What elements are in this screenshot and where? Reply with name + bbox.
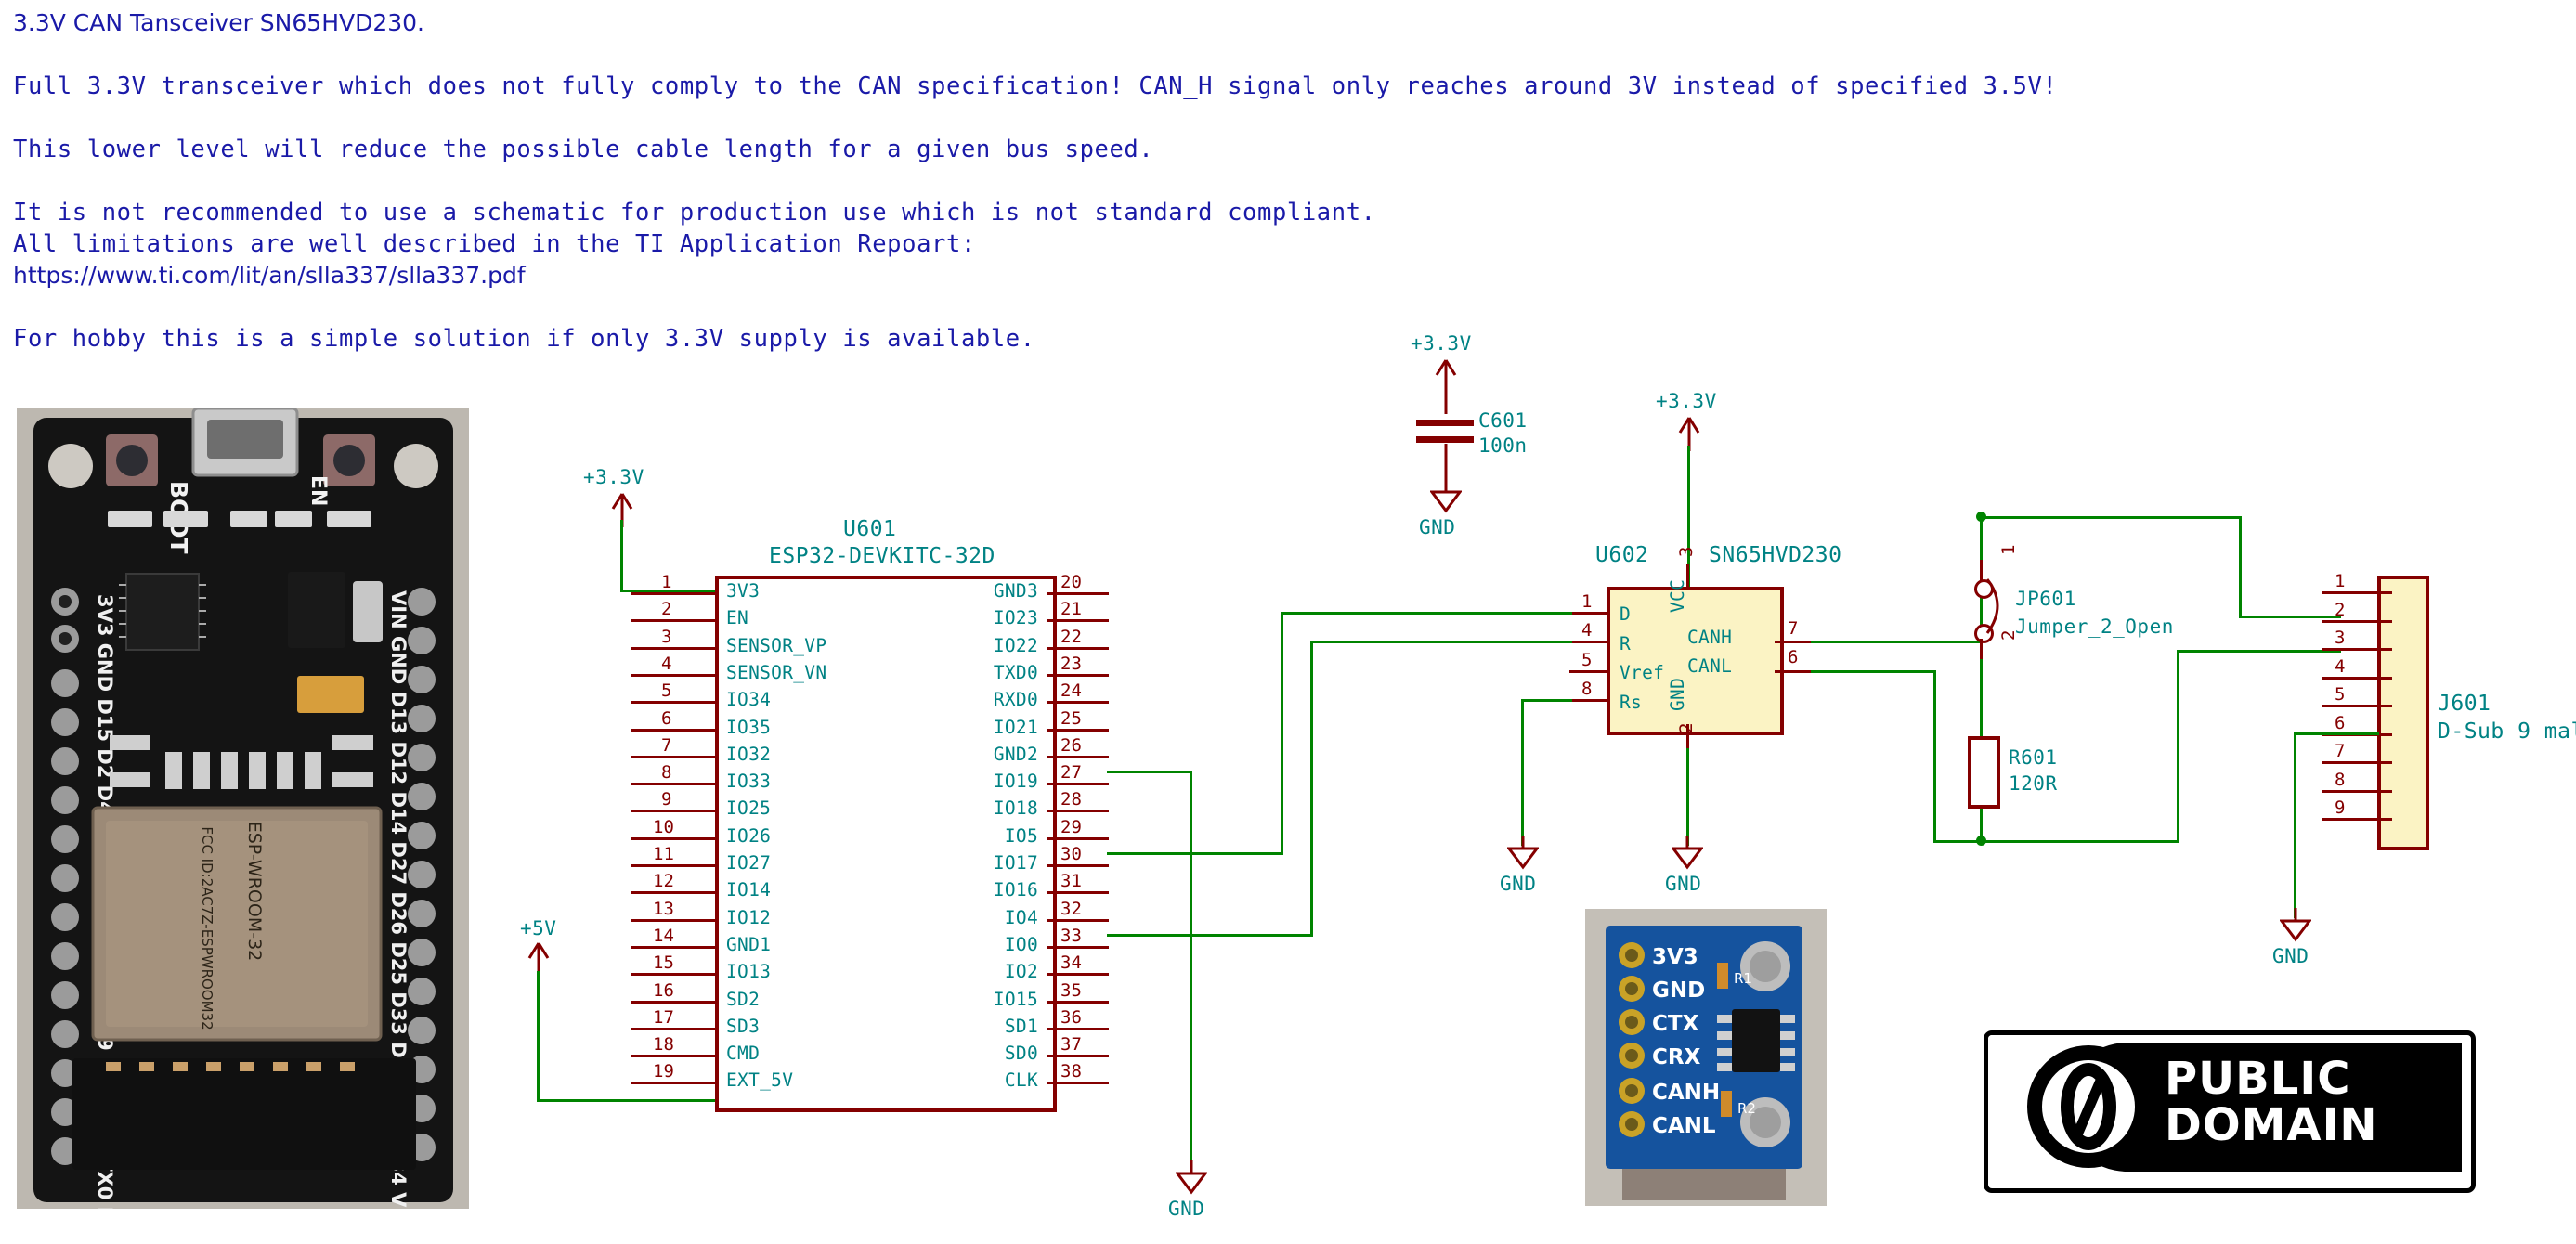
u601-left-pin-number: 7 (661, 735, 671, 756)
u601-right-pin-number: 22 (1060, 627, 1082, 647)
u601-left-pin-name: SENSOR_VP (726, 635, 826, 656)
svg-text:CANL: CANL (1652, 1114, 1716, 1138)
wire-j601-pin5-gnd-v (2294, 732, 2296, 918)
u602-pin-vref-num: 5 (1581, 650, 1592, 670)
u601-right-pin-number: 28 (1060, 789, 1082, 810)
power-label-5v: +5V (520, 917, 556, 939)
u601-right-pin-stub (1047, 973, 1109, 976)
u601-left-pin-name: IO35 (726, 717, 771, 738)
u601-right-pin-name: IO2 (1005, 961, 1038, 982)
jp601-pin1-num: 1 (1998, 545, 2019, 555)
u602-pin-rs-name: Rs (1620, 692, 1642, 713)
u602-pin-d-name: D (1620, 603, 1631, 625)
svg-text:ESP-WROOM-32: ESP-WROOM-32 (244, 822, 265, 962)
u601-left-pin-name: IO33 (726, 771, 771, 792)
u602-pin-canh-num: 7 (1788, 618, 1798, 639)
svg-text:CTX: CTX (1652, 1012, 1699, 1036)
u601-right-pin-stub (1047, 919, 1109, 922)
wire-canh-dsub-entry (2239, 616, 2341, 618)
u601-right-pin-name: IO22 (994, 635, 1038, 656)
u602-pin-canh-name: CANH (1687, 627, 1732, 648)
u601-left-pin-stub (631, 1055, 717, 1057)
u602-gnd-label: GND (1665, 873, 1701, 895)
svg-text:3V3: 3V3 (1652, 945, 1698, 969)
u601-right-pin-number: 34 (1060, 952, 1082, 973)
u601-right-pin-number: 29 (1060, 817, 1082, 837)
u602-pin-r-name: R (1620, 633, 1631, 654)
u601-right-pin-name: IO23 (994, 607, 1038, 628)
u601-left-pin-number: 18 (653, 1034, 674, 1055)
u601-left-pin-number: 15 (653, 952, 674, 973)
u602-pin-canl-num: 6 (1788, 647, 1798, 667)
wire-5v-horizontal (537, 1099, 718, 1102)
u601-right-pin-name: IO16 (994, 879, 1038, 901)
wire-canl-seg2 (1933, 670, 1936, 842)
u601-right-pin-name: SD1 (1005, 1016, 1038, 1037)
u601-left-pin-name: IO13 (726, 961, 771, 982)
u601-left-pin-number: 3 (661, 627, 671, 647)
wire-canh-to-dsub (2239, 516, 2242, 618)
note-line-6: For hobby this is a simple solution if o… (13, 323, 2335, 355)
c601-plate-top (1416, 420, 1474, 426)
j601-pin-stub (2322, 818, 2392, 821)
j601-pin-number: 7 (2335, 741, 2345, 761)
u601-right-pin-number: 32 (1060, 899, 1082, 919)
svg-text:R1: R1 (1734, 970, 1752, 987)
u601-left-pin-stub (631, 1028, 717, 1030)
u601-left-pin-number: 11 (653, 844, 674, 864)
power-arrow-3v3-cap (1430, 358, 1462, 416)
u601-left-pin-stub (631, 810, 717, 812)
u601-left-pin-number: 16 (653, 980, 674, 1001)
u601-right-pin-name: RXD0 (994, 689, 1038, 710)
u601-right-pin-number: 20 (1060, 572, 1082, 592)
u601-right-pin-number: 31 (1060, 871, 1082, 891)
jp601-arc (1985, 576, 2013, 637)
wire-5v-vertical (537, 971, 540, 1102)
u601-left-pin-name: IO14 (726, 879, 771, 901)
u601-right-pin-stub (1047, 592, 1109, 595)
u601-left-pin-name: IO34 (726, 689, 771, 710)
j601-pin-stub (2322, 648, 2392, 651)
note-url[interactable]: https://www.ti.com/lit/an/slla337/slla33… (13, 260, 2335, 292)
junction-top-canh (1976, 512, 1986, 522)
u601-left-pin-stub (631, 973, 717, 976)
c601-gnd-label: GND (1419, 516, 1455, 538)
u602-ref: U602 (1595, 543, 1648, 567)
u601-right-pin-name: CLK (1005, 1069, 1038, 1091)
junction-bottom-canl (1976, 836, 1986, 846)
u601-left-pin-stub (631, 864, 717, 867)
u601-right-pin-number: 38 (1060, 1061, 1082, 1082)
u601-left-pin-name: IO32 (726, 744, 771, 765)
svg-text:EN: EN (306, 475, 330, 506)
public-domain-line-2: DOMAIN (2165, 1102, 2378, 1148)
u601-right-pin-stub (1047, 864, 1109, 867)
j601-gnd-symbol (2280, 908, 2311, 945)
wire-gnd2-horizontal (1107, 771, 1192, 773)
j601-pin-stub (2322, 790, 2392, 793)
u601-left-pin-stub (631, 647, 717, 650)
u601-left-pin-number: 9 (661, 789, 671, 810)
esp-gnd-label: GND (1168, 1198, 1204, 1220)
u601-right-pin-stub (1047, 810, 1109, 812)
j601-pin-number: 9 (2335, 797, 2345, 818)
note-line-2: This lower level will reduce the possibl… (13, 134, 2335, 165)
u602-pin-vcc-num: 3 (1676, 547, 1697, 557)
u602-pin-vcc-name: VCC (1667, 579, 1688, 613)
rs-gnd-symbol (1507, 836, 1539, 873)
power-label-3v3-ic: +3.3V (1656, 390, 1717, 412)
j601-body[interactable] (2377, 576, 2429, 850)
wire-io5-seg2 (1281, 612, 1283, 855)
power-label-3v3-esp: +3.3V (583, 466, 644, 488)
notes-block: 3.3V CAN Tansceiver SN65HVD230. Full 3.3… (13, 7, 2335, 355)
can-module-photo: 3V3 GND CTX CRX CANH CANL R1 R2 (1585, 909, 1827, 1206)
wire-canh-seg1 (1811, 641, 1983, 643)
svg-text:CANH: CANH (1652, 1081, 1720, 1105)
wire-rs-horizontal (1521, 699, 1572, 702)
u602-pin-vref-name: Vref (1620, 662, 1664, 683)
u601-right-pin-stub (1047, 756, 1109, 758)
u601-ref: U601 (843, 517, 896, 541)
u601-right-pin-number: 21 (1060, 599, 1082, 619)
u601-left-pin-stub (631, 946, 717, 949)
r601-value: 120R (2009, 772, 2058, 795)
wire-io4-seg2 (1310, 641, 1313, 937)
u601-right-pin-stub (1047, 674, 1109, 677)
u601-left-pin-name: SD3 (726, 1016, 760, 1037)
j601-pin-number: 1 (2335, 571, 2345, 591)
u601-left-pin-number: 10 (653, 817, 674, 837)
u601-right-pin-name: IO21 (994, 717, 1038, 738)
svg-text:CRX: CRX (1652, 1045, 1701, 1069)
c601-value: 100n (1478, 434, 1528, 457)
u601-left-pin-name: CMD (726, 1043, 760, 1064)
u601-left-pin-stub (631, 674, 717, 677)
power-label-3v3-cap: +3.3V (1411, 332, 1472, 355)
u601-right-pin-number: 25 (1060, 708, 1082, 729)
u601-left-pin-number: 14 (653, 926, 674, 946)
wire-canh-top-rail (1980, 516, 2242, 519)
u602-pin-rs-num: 8 (1581, 679, 1592, 699)
u601-right-pin-stub (1047, 1055, 1109, 1057)
u601-left-pin-name: EN (726, 607, 748, 628)
u601-right-pin-name: IO17 (994, 852, 1038, 874)
u601-right-pin-stub (1047, 946, 1109, 949)
j601-ref: J601 (2438, 692, 2491, 716)
u602-stub-canl (1775, 670, 1814, 673)
j601-pin-stub (2322, 591, 2392, 594)
j601-pin-number: 6 (2335, 713, 2345, 733)
u601-left-pin-name: EXT_5V (726, 1069, 793, 1091)
u601-right-pin-stub (1047, 1028, 1109, 1030)
wire-rs-vertical (1521, 699, 1524, 846)
u601-right-pin-stub (1047, 891, 1109, 894)
svg-text:GND: GND (1652, 978, 1705, 1003)
j601-pin-number: 2 (2335, 600, 2345, 620)
u602-pin-canl-name: CANL (1687, 655, 1732, 677)
u602-pin-d-num: 1 (1581, 591, 1592, 612)
u601-left-pin-number: 1 (661, 572, 671, 592)
u601-left-pin-stub (631, 837, 717, 840)
r601-body[interactable] (1968, 736, 2000, 809)
j601-pin-number: 8 (2335, 770, 2345, 790)
j601-pin-stub (2322, 620, 2392, 623)
j601-pin-stub (2322, 705, 2392, 707)
j601-pin-number: 5 (2335, 684, 2345, 705)
u601-right-pin-number: 26 (1060, 735, 1082, 756)
u602-stub-r (1569, 641, 1608, 643)
jp601-ref: JP601 (2015, 588, 2076, 610)
u601-right-pin-stub (1047, 619, 1109, 622)
u602-stub-canh (1775, 641, 1814, 643)
u601-right-pin-number: 36 (1060, 1007, 1082, 1028)
u601-right-pin-name: IO5 (1005, 825, 1038, 847)
wire-io4-seg3 (1310, 641, 1572, 643)
u602-stub-rs (1569, 699, 1608, 702)
j601-value: D-Sub 9 male (2438, 719, 2576, 744)
u601-left-pin-name: IO27 (726, 852, 771, 874)
u601-value: ESP32-DEVKITC-32D (769, 544, 995, 568)
rs-gnd-label: GND (1500, 873, 1536, 895)
j601-pin-stub (2322, 761, 2392, 764)
u601-right-pin-number: 35 (1060, 980, 1082, 1001)
wire-io5-seg3 (1281, 612, 1572, 615)
u601-left-pin-name: 3V3 (726, 580, 760, 602)
u601-left-pin-number: 8 (661, 762, 671, 783)
c601-gnd-symbol (1430, 444, 1462, 516)
note-line-4: All limitations are well described in th… (13, 228, 2335, 260)
u601-left-pin-number: 4 (661, 654, 671, 674)
note-title: 3.3V CAN Tansceiver SN65HVD230. (13, 7, 2335, 39)
u601-right-pin-name: GND2 (994, 744, 1038, 765)
u601-left-pin-stub (631, 1001, 717, 1004)
u601-right-pin-stub (1047, 647, 1109, 650)
wire-u602-gnd (1686, 748, 1689, 846)
u601-right-pin-name: TXD0 (994, 662, 1038, 683)
u601-left-pin-stub (631, 619, 717, 622)
svg-text:FCC ID:2AC7Z-ESPWROOM32: FCC ID:2AC7Z-ESPWROOM32 (199, 826, 215, 1030)
r601-ref: R601 (2009, 746, 2058, 769)
u602-stub-gnd (1686, 724, 1689, 750)
u601-right-pin-stub (1047, 783, 1109, 785)
j601-pin-number: 3 (2335, 628, 2345, 648)
u602-gnd-symbol (1672, 836, 1703, 873)
u601-right-pin-name: IO15 (994, 989, 1038, 1010)
u601-right-pin-name: IO19 (994, 771, 1038, 792)
u602-value: SN65HVD230 (1709, 543, 1841, 567)
u601-left-pin-stub (631, 592, 717, 595)
wire-canl-dsub-entry (2177, 650, 2341, 653)
u601-right-pin-stub (1047, 1001, 1109, 1004)
u601-right-pin-number: 27 (1060, 762, 1082, 783)
note-line-1: Full 3.3V transceiver which does not ful… (13, 71, 2335, 102)
wire-io5-seg1 (1107, 852, 1283, 855)
jp601-stub-2 (1980, 639, 1983, 659)
wire-gnd2-vertical (1190, 771, 1192, 1170)
public-domain-badge: PUBLIC DOMAIN (1984, 1030, 2476, 1193)
u601-left-pin-number: 2 (661, 599, 671, 619)
u601-right-pin-name: IO18 (994, 797, 1038, 819)
j601-pin-stub (2322, 677, 2392, 680)
wire-io4-seg1 (1107, 934, 1313, 937)
u601-right-pin-number: 24 (1060, 680, 1082, 701)
svg-text:R2: R2 (1737, 1100, 1756, 1117)
u601-right-pin-stub (1047, 701, 1109, 704)
u602-stub-d (1569, 612, 1608, 615)
u601-left-pin-stub (631, 891, 717, 894)
u601-right-pin-stub (1047, 729, 1109, 732)
u601-right-pin-number: 30 (1060, 844, 1082, 864)
u601-right-pin-number: 23 (1060, 654, 1082, 674)
j601-pin-number: 4 (2335, 656, 2345, 677)
u601-left-pin-name: IO25 (726, 797, 771, 819)
u601-right-pin-stub (1047, 837, 1109, 840)
esp32-devkit-photo: BOOT EN 3 (17, 408, 469, 1209)
u601-left-pin-stub (631, 729, 717, 732)
u601-left-pin-name: IO12 (726, 907, 771, 928)
u601-right-pin-name: IO0 (1005, 934, 1038, 955)
u601-left-pin-stub (631, 756, 717, 758)
wire-canl-seg1 (1811, 670, 1936, 673)
u601-left-pin-name: IO26 (726, 825, 771, 847)
u601-left-pin-name: SENSOR_VN (726, 662, 826, 683)
u601-left-pin-number: 12 (653, 871, 674, 891)
u601-left-pin-name: SD2 (726, 989, 760, 1010)
jp601-value: Jumper_2_Open (2015, 616, 2174, 638)
u601-left-pin-number: 5 (661, 680, 671, 701)
wire-j601-pin5-gnd-h (2294, 732, 2379, 735)
u601-left-pin-name: GND1 (726, 934, 771, 955)
u601-left-pin-stub (631, 783, 717, 785)
public-domain-line-1: PUBLIC (2165, 1056, 2378, 1102)
u602-pin-r-num: 4 (1581, 620, 1592, 641)
u601-left-pin-number: 6 (661, 708, 671, 729)
u601-left-pin-number: 19 (653, 1061, 674, 1082)
note-line-3: It is not recommended to use a schematic… (13, 197, 2335, 228)
u601-right-pin-stub (1047, 1082, 1109, 1084)
c601-plate-bottom (1416, 436, 1474, 443)
esp-gnd-symbol (1176, 1160, 1207, 1198)
u601-right-pin-number: 37 (1060, 1034, 1082, 1055)
c601-ref: C601 (1478, 409, 1528, 432)
wire-canl-bottom-rail (1933, 840, 2179, 843)
u601-right-pin-name: SD0 (1005, 1043, 1038, 1064)
u601-right-pin-name: IO4 (1005, 907, 1038, 928)
wire-canl-up-to-dsub (2177, 650, 2179, 842)
wire-3v3-esp-vertical (620, 520, 623, 592)
u602-stub-vcc (1686, 564, 1689, 590)
u601-right-pin-number: 33 (1060, 926, 1082, 946)
u601-left-pin-stub (631, 1082, 717, 1084)
j601-gnd-label: GND (2272, 945, 2309, 967)
u601-left-pin-stub (631, 701, 717, 704)
jp601-stub-1 (1980, 560, 1983, 580)
u601-left-pin-number: 13 (653, 899, 674, 919)
u602-pin-gnd-name: GND (1667, 678, 1688, 711)
u601-left-pin-number: 17 (653, 1007, 674, 1028)
u601-right-pin-name: GND3 (994, 580, 1038, 602)
u602-stub-vref (1569, 670, 1608, 673)
u601-left-pin-stub (631, 919, 717, 922)
